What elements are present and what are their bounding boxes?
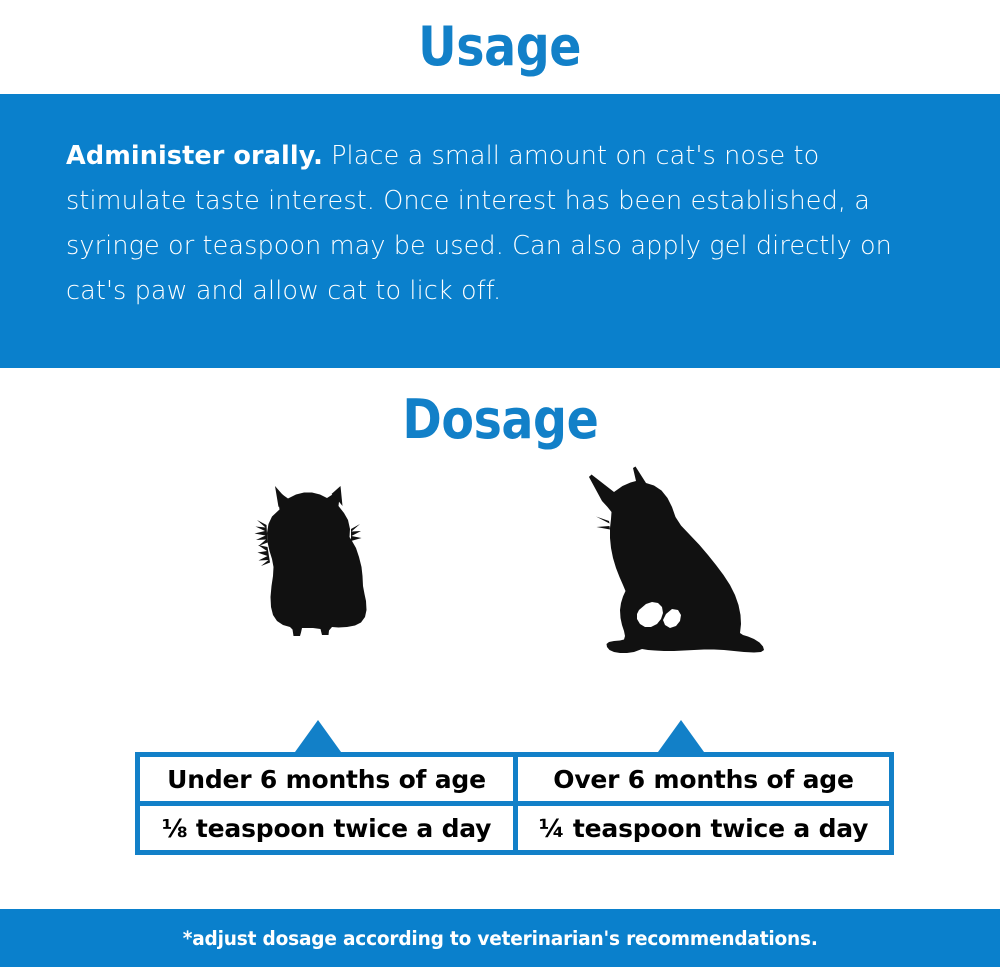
pointer-triangle-adult-icon [658, 720, 704, 752]
usage-instructions-panel: Administer orally. Place a small amount … [0, 94, 1000, 368]
page-title-usage: Usage [419, 20, 582, 74]
bottom-spacer [0, 860, 1000, 909]
dosage-header-over-6-months: Over 6 months of age [516, 755, 892, 804]
usage-title-section: Usage [0, 0, 1000, 94]
table-row-values: ⅛ teaspoon twice a day ¼ teaspoon twice … [138, 804, 892, 853]
dosage-table: Under 6 months of age Over 6 months of a… [135, 752, 894, 855]
usage-lead-emphasis: Administer orally. [66, 141, 323, 171]
pointer-triangle-kitten-icon [295, 720, 341, 752]
kitten-silhouette-icon [252, 479, 370, 649]
footer-note-band: *adjust dosage according to veterinarian… [0, 909, 1000, 967]
dosage-pointers [0, 720, 1000, 752]
dosage-header-under-6-months: Under 6 months of age [138, 755, 516, 804]
footer-disclaimer-text: *adjust dosage according to veterinarian… [182, 927, 817, 950]
table-row-headers: Under 6 months of age Over 6 months of a… [138, 755, 892, 804]
dosage-title-section: Dosage [0, 368, 1000, 472]
dosage-value-over-6-months: ¼ teaspoon twice a day [516, 804, 892, 853]
adult-cat-silhouette-icon [566, 464, 770, 691]
page-title-dosage: Dosage [402, 393, 598, 447]
dosage-value-under-6-months: ⅛ teaspoon twice a day [138, 804, 516, 853]
usage-instructions-text: Administer orally. Place a small amount … [66, 134, 938, 314]
cat-illustrations-row [0, 472, 1000, 720]
dosage-table-wrapper: Under 6 months of age Over 6 months of a… [0, 752, 1000, 860]
